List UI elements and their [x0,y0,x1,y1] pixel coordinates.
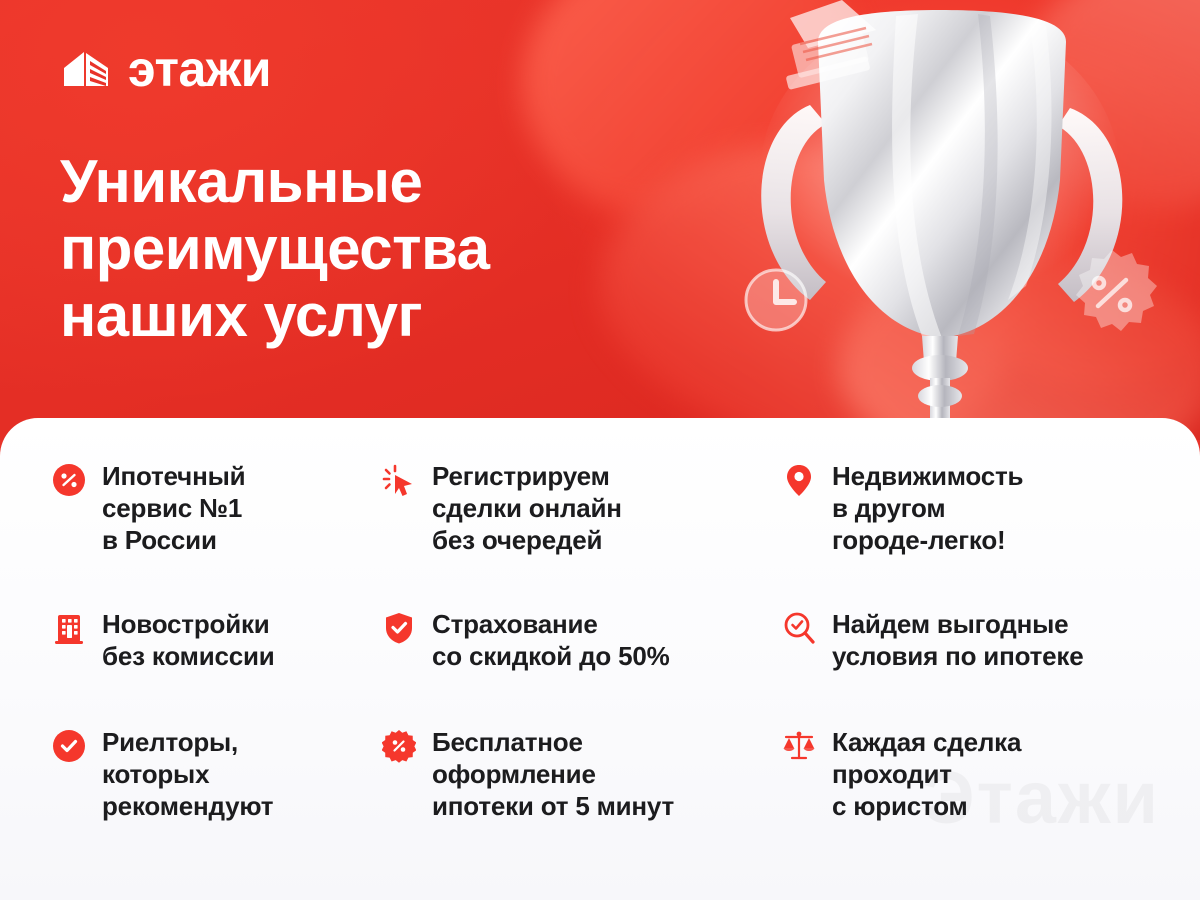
cursor-click-icon [382,463,416,497]
feature-item: Новостройки без комиссии [52,608,382,726]
bank-icon [786,0,876,90]
features-grid: Ипотечный сервис №1 в России Ре [0,418,1200,900]
feature-item: Недвижимость в другом городе-легко! [782,460,1200,608]
map-pin-icon [782,463,816,497]
feature-label: Страхование со скидкой до 50% [432,608,670,672]
feature-item: Ипотечный сервис №1 в России [52,460,382,608]
shield-check-icon [382,611,416,645]
feature-label: Найдем выгодные условия по ипотеке [832,608,1084,672]
percent-circle-icon [52,463,86,497]
features-card: Этажи Ипотечный сервис №1 в России [0,418,1200,900]
promo-banner: этажи Уникальные преимущества наших услу… [0,0,1200,900]
search-check-icon [782,611,816,645]
cloth-shape [826,225,1200,440]
feature-item: Риелторы, которых рекомендуют [52,726,382,896]
feature-item: Бесплатное оформление ипотеки от 5 минут [382,726,782,896]
brand-logo[interactable]: этажи [62,44,271,94]
apartment-building-icon [52,611,86,645]
feature-label: Каждая сделка проходит с юристом [832,726,1021,823]
feature-label: Риелторы, которых рекомендуют [102,726,273,823]
scales-justice-icon [782,729,816,763]
feature-item: Каждая сделка проходит с юристом [782,726,1200,896]
brand-name: этажи [128,44,271,94]
feature-item: Страхование со скидкой до 50% [382,608,782,726]
clock-icon [746,270,806,330]
check-circle-icon [52,729,86,763]
feature-label: Ипотечный сервис №1 в России [102,460,245,557]
building-logo-icon [62,46,114,92]
hero-section: этажи Уникальные преимущества наших услу… [0,0,1200,440]
feature-item: Найдем выгодные условия по ипотеке [782,608,1200,726]
cloth-shape [1020,0,1200,210]
percent-badge-icon [382,729,416,763]
percent-badge-icon [1076,250,1157,331]
cloth-shape [889,16,1200,434]
silver-trophy-illustration [690,0,1200,440]
feature-label: Бесплатное оформление ипотеки от 5 минут [432,726,674,823]
page-title: Уникальные преимущества наших услуг [60,148,680,350]
feature-label: Недвижимость в другом городе-легко! [832,460,1023,557]
feature-item: Регистрируем сделки онлайн без очередей [382,460,782,608]
feature-label: Регистрируем сделки онлайн без очередей [432,460,622,557]
feature-label: Новостройки без комиссии [102,608,275,672]
